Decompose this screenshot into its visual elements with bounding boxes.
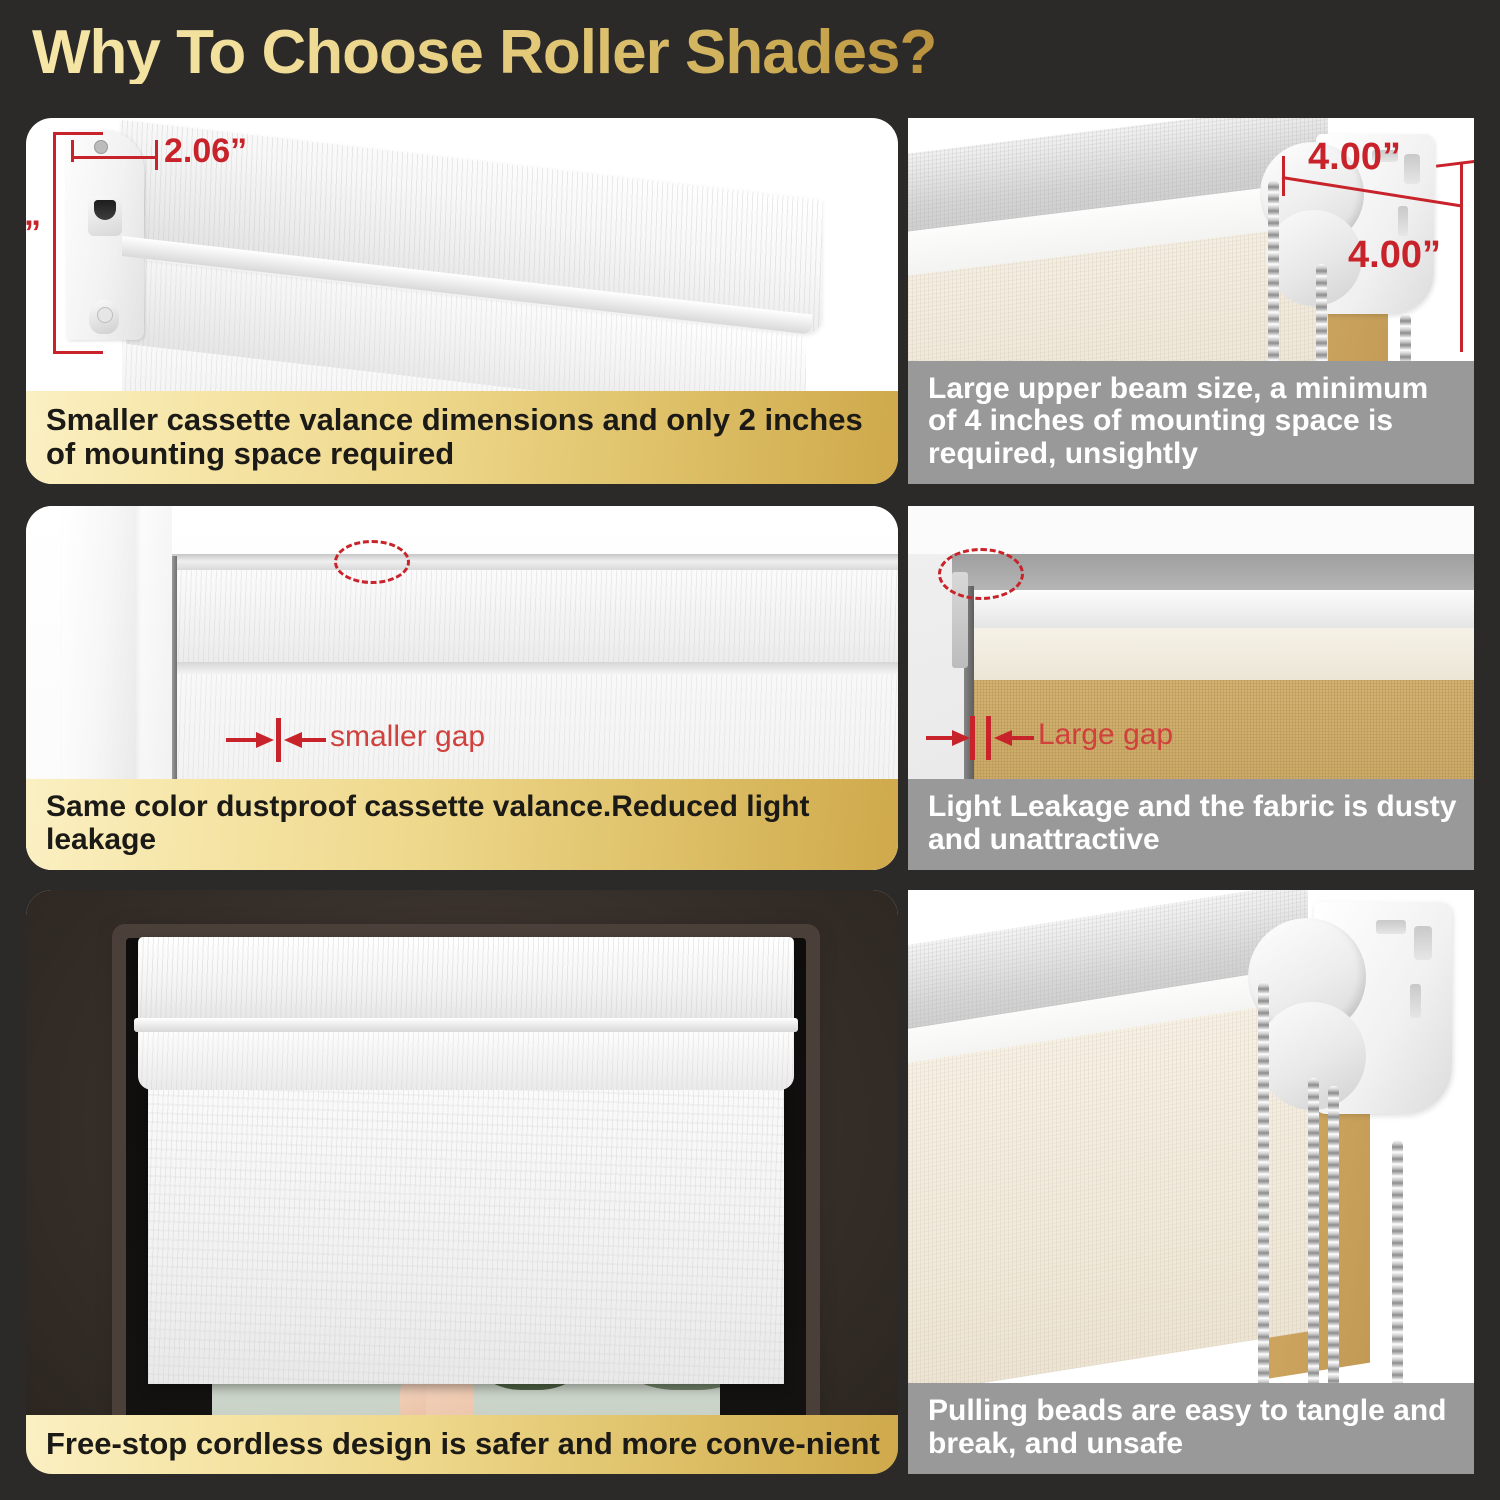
height-dimension-label: 5.49” xyxy=(26,214,41,253)
mount-slot-3 xyxy=(1398,206,1408,236)
window-shade-headrail xyxy=(172,554,898,570)
infographic-root: Why To Choose Roller Shades? 2.06” 5.49”… xyxy=(0,0,1500,1500)
width-dimension-label: 2.06” xyxy=(164,132,247,171)
gap-highlight-ellipse xyxy=(334,540,410,584)
gap-arrow-left-head xyxy=(952,728,970,748)
mount-slot-1 xyxy=(1376,920,1406,934)
width-dimension-line xyxy=(71,156,158,159)
panel-2-caption: Large upper beam size, a minimum of 4 in… xyxy=(908,361,1474,484)
large-gap-label: Large gap xyxy=(1038,718,1173,752)
gap-marker-bar-2 xyxy=(986,716,991,760)
roller-cream-band xyxy=(970,628,1474,680)
panel-4: Large gap Light Leakage and the fabric i… xyxy=(908,506,1474,870)
panel-1: 2.06” 5.49” Smaller cassette valance dim… xyxy=(26,118,898,484)
window-shade-divider-bar xyxy=(174,662,898,674)
panel-4-caption: Light Leakage and the fabric is dusty an… xyxy=(908,779,1474,870)
panel-5: Free-stop cordless design is safer and m… xyxy=(26,890,898,1474)
mount-slot-2 xyxy=(1414,926,1432,960)
beam-top-shadow xyxy=(952,554,1474,590)
panel-5-photo xyxy=(26,890,898,1474)
beam-height-label: 4.00” xyxy=(1348,234,1441,277)
bracket-clutch-knob xyxy=(88,196,122,236)
panel-3: smaller gap Same color dustproof cassett… xyxy=(26,506,898,870)
window-frame xyxy=(126,938,806,1474)
gap-marker-bar xyxy=(276,718,281,762)
panel-3-caption: Same color dustproof cassette valance.Re… xyxy=(26,779,898,870)
gap-arrow-right-head xyxy=(994,728,1012,748)
cassette-valance-lip xyxy=(134,1018,798,1032)
gap-arrow-right-head xyxy=(284,730,302,750)
height-dimension-tick-top xyxy=(53,132,103,135)
gap-marker-bar-1 xyxy=(970,716,975,760)
roller-shade-roll xyxy=(138,1030,794,1090)
bracket-top-screw-icon xyxy=(94,140,108,154)
panel-1-caption: Smaller cassette valance dimensions and … xyxy=(26,391,898,484)
gap-arrow-right-shaft xyxy=(300,738,326,742)
gap-highlight-ellipse xyxy=(938,548,1024,600)
beam-height-tick-top xyxy=(1436,159,1474,167)
height-dimension-line xyxy=(53,132,56,354)
gap-arrow-right-shaft xyxy=(1010,736,1034,740)
mount-slot-3 xyxy=(1410,984,1421,1018)
panel-2: 4.00” 4.00” Large upper beam size, a min… xyxy=(908,118,1474,484)
beam-width-tick-left xyxy=(1282,156,1285,196)
width-dimension-tick-left xyxy=(71,140,74,162)
beam-height-line xyxy=(1460,162,1463,352)
beam-width-label: 4.00” xyxy=(1308,136,1401,179)
page-title: Why To Choose Roller Shades? xyxy=(32,22,936,84)
window-shade-upper-fabric xyxy=(176,570,898,662)
roller-shade-fabric xyxy=(148,1088,784,1384)
panel-6: Pulling beads are easy to tangle and bre… xyxy=(908,890,1474,1474)
roller-headrail xyxy=(970,590,1474,630)
smaller-gap-label: smaller gap xyxy=(330,720,485,754)
bracket-bottom-screw-icon xyxy=(89,300,119,334)
height-dimension-tick-bottom xyxy=(53,351,103,354)
gap-arrow-left-shaft xyxy=(226,738,260,742)
wall-upper-white xyxy=(908,506,1474,554)
gap-arrow-left-head xyxy=(256,730,274,750)
panel-6-caption: Pulling beads are easy to tangle and bre… xyxy=(908,1383,1474,1474)
panel-5-caption: Free-stop cordless design is safer and m… xyxy=(26,1415,898,1474)
width-dimension-tick-right xyxy=(155,140,158,170)
mount-slot-2 xyxy=(1404,154,1420,184)
roller-end-cap xyxy=(1248,898,1458,1128)
cassette-valance xyxy=(138,937,794,1023)
